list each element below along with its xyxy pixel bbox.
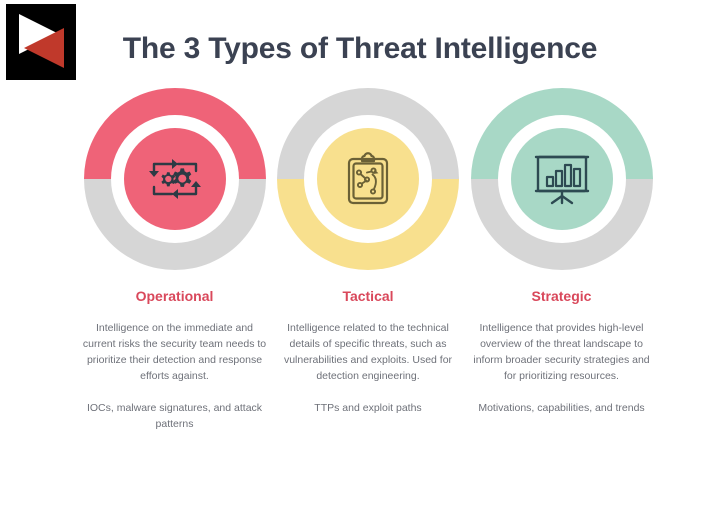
page-title: The 3 Types of Threat Intelligence xyxy=(0,32,720,66)
badge-tactical xyxy=(277,88,459,270)
examples-tactical: TTPs and exploit paths xyxy=(275,400,461,416)
core-tactical xyxy=(317,128,419,230)
core-operational xyxy=(124,128,226,230)
type-card-operational: Operational Intelligence on the immediat… xyxy=(78,88,271,432)
examples-strategic: Motivations, capabilities, and trends xyxy=(469,400,655,416)
clipboard-playbook-icon xyxy=(345,152,391,206)
types-grid: Operational Intelligence on the immediat… xyxy=(78,88,658,432)
badge-strategic xyxy=(471,88,653,270)
badge-operational xyxy=(84,88,266,270)
description-operational: Intelligence on the immediate and curren… xyxy=(82,320,268,384)
description-tactical: Intelligence related to the technical de… xyxy=(275,320,461,384)
heading-strategic: Strategic xyxy=(532,288,592,304)
core-strategic xyxy=(511,128,613,230)
heading-tactical: Tactical xyxy=(342,288,393,304)
presentation-bar-chart-icon xyxy=(533,152,591,206)
type-card-strategic: Strategic Intelligence that provides hig… xyxy=(465,88,658,432)
description-strategic: Intelligence that provides high-level ov… xyxy=(469,320,655,384)
gears-refresh-cycle-icon xyxy=(146,155,204,203)
heading-operational: Operational xyxy=(136,288,214,304)
type-card-tactical: Tactical Intelligence related to the tec… xyxy=(272,88,465,432)
examples-operational: IOCs, malware signatures, and attack pat… xyxy=(82,400,268,432)
